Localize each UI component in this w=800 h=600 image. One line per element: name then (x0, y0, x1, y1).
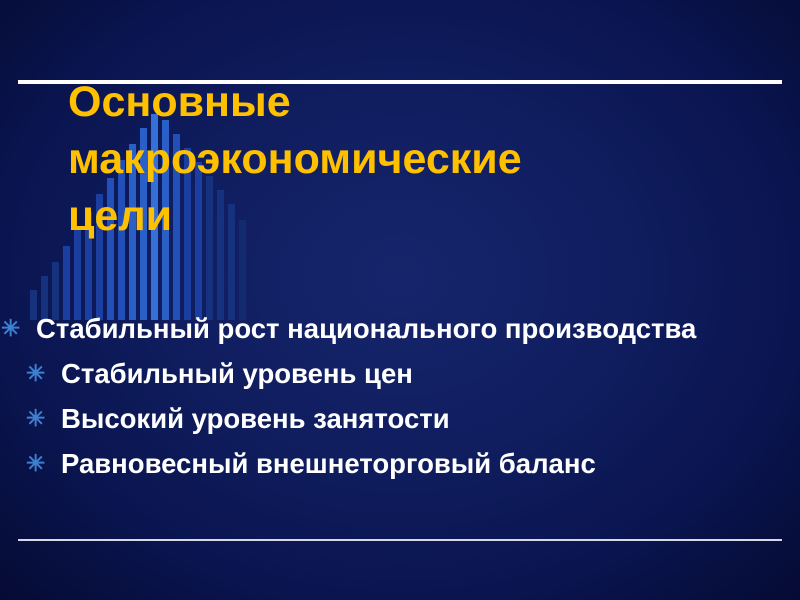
list-item: ✳ Высокий уровень занятости (18, 396, 788, 441)
list-item-label: Равновесный внешнеторговый баланс (61, 448, 596, 479)
bottom-rule (18, 539, 782, 541)
bullet-star-icon: ✳ (26, 351, 45, 396)
bullet-star-icon: ✳ (26, 441, 45, 486)
list-item-label: Высокий уровень занятости (61, 403, 450, 434)
slide: Основные макроэкономические цели ✳ Стаби… (0, 0, 800, 600)
list-item-label: Стабильный уровень цен (61, 358, 413, 389)
bullet-list: ✳ Стабильный рост национального производ… (18, 306, 788, 486)
list-item: ✳ Равновесный внешнеторговый баланс (18, 441, 788, 486)
bullet-star-icon: ✳ (26, 396, 45, 441)
list-item: ✳ Стабильный уровень цен (18, 351, 788, 396)
list-item-label: Стабильный рост национального производст… (36, 313, 696, 344)
page-title: Основные макроэкономические цели (68, 74, 768, 245)
list-item: ✳ Стабильный рост национального производ… (18, 306, 788, 351)
